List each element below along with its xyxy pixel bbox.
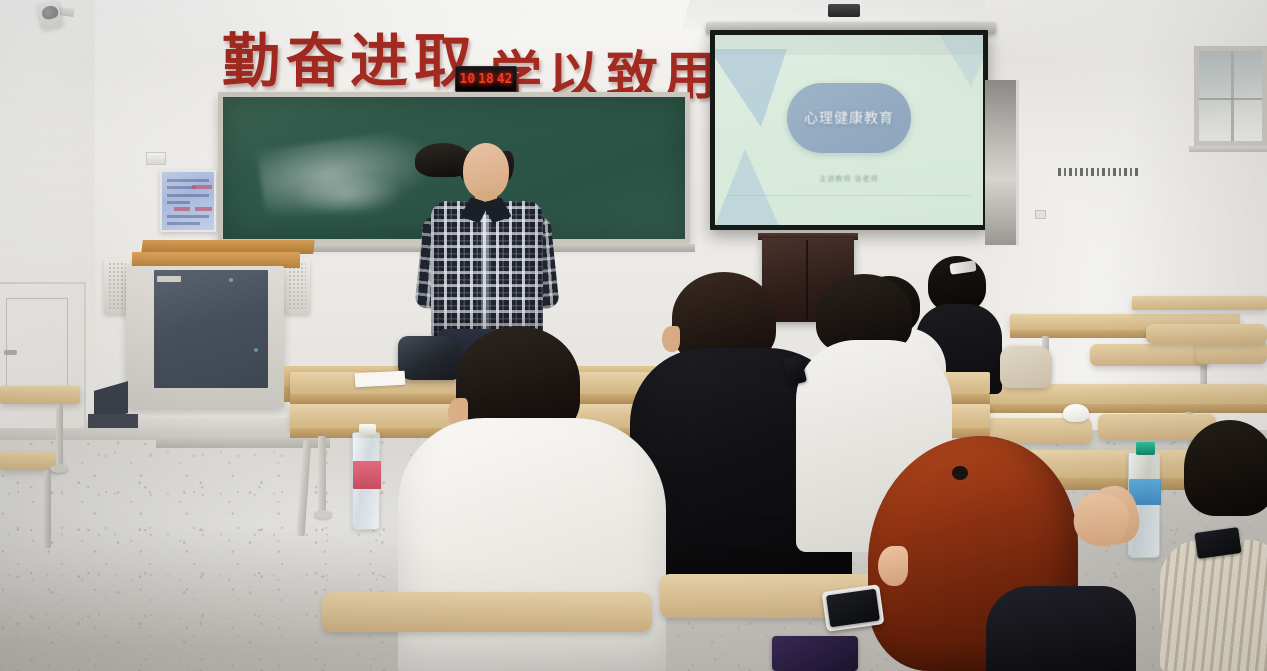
window-sill bbox=[1189, 146, 1267, 152]
led-hour: 10 bbox=[460, 72, 476, 87]
tablet-device[interactable] bbox=[772, 636, 858, 671]
bench-front-left bbox=[322, 592, 652, 632]
projection-screen: 心理健康教育 主讲教师 张老师 bbox=[710, 30, 988, 230]
desk-leg bbox=[44, 470, 51, 548]
teacher-shirt-placket bbox=[481, 215, 489, 333]
desk-leg bbox=[318, 436, 326, 514]
water-bottle bbox=[352, 432, 380, 530]
bottle-label bbox=[353, 461, 381, 489]
desk-left-side bbox=[0, 386, 80, 404]
speaker-grille-icon bbox=[288, 262, 306, 310]
notebook-papers bbox=[355, 371, 406, 388]
multimedia-lectern[interactable] bbox=[88, 236, 324, 436]
desk-right-mid bbox=[1132, 296, 1267, 310]
slide-title-pill: 心理健康教育 bbox=[787, 83, 911, 153]
bench-back-right bbox=[1090, 344, 1210, 366]
speaker-grille-icon bbox=[108, 262, 126, 310]
door-handle[interactable] bbox=[4, 350, 17, 355]
rear-doorway[interactable] bbox=[985, 80, 1019, 245]
lectern-slot bbox=[157, 276, 181, 282]
slide-decor-triangle-bottom-left bbox=[715, 149, 783, 225]
backpack bbox=[1000, 346, 1052, 388]
slide-decor-triangle-top-right bbox=[931, 35, 983, 87]
lectern-shadow-base bbox=[88, 414, 138, 428]
lectern-indicator bbox=[229, 278, 233, 282]
security-camera bbox=[8, 2, 78, 36]
led-second: 42 bbox=[497, 72, 513, 87]
desk-leg-foot bbox=[314, 510, 332, 519]
window-mullion-horizontal bbox=[1199, 98, 1262, 100]
phone-screen[interactable] bbox=[826, 589, 880, 628]
desk-leg bbox=[56, 404, 63, 468]
wall-slogan-left: 勤奋进取 bbox=[222, 14, 478, 98]
led-minute: 18 bbox=[478, 72, 494, 87]
ceiling-projector bbox=[828, 4, 860, 17]
side-window bbox=[1194, 46, 1267, 146]
bench-right-mid bbox=[1146, 324, 1267, 344]
slide-divider bbox=[727, 195, 971, 196]
chalk-smudge-secondary bbox=[293, 173, 403, 217]
presentation-slide: 心理健康教育 主讲教师 张老师 bbox=[715, 35, 983, 225]
bottle-cap bbox=[359, 424, 376, 435]
student-torso bbox=[398, 418, 666, 671]
led-clock-display: 10 18 42 bbox=[455, 66, 517, 92]
wall-mounted-box bbox=[146, 152, 166, 165]
lectern-led-icon bbox=[254, 348, 258, 352]
lectern-front-panel[interactable] bbox=[154, 270, 268, 388]
student-torso bbox=[986, 586, 1136, 671]
student-hair bbox=[1184, 420, 1267, 516]
slide-decor-triangle-top-left bbox=[715, 49, 787, 127]
smartphone-white-case[interactable] bbox=[821, 584, 884, 632]
door-panel bbox=[6, 298, 68, 390]
student-redhair-ponytail bbox=[856, 436, 1128, 671]
wall-notice-poster bbox=[160, 170, 216, 232]
student-torso bbox=[1160, 540, 1267, 671]
window-mullion-vertical bbox=[1231, 51, 1234, 141]
desk-leg-foot bbox=[50, 464, 68, 473]
wall-outlet[interactable] bbox=[1035, 210, 1046, 219]
bottle-cap bbox=[1136, 442, 1155, 455]
wall-rules-text bbox=[1058, 168, 1140, 176]
lectern-body bbox=[126, 266, 284, 408]
slide-title: 心理健康教育 bbox=[804, 108, 894, 128]
tissue-paper bbox=[1063, 404, 1089, 422]
slide-subtitle: 主讲教师 张老师 bbox=[819, 174, 878, 184]
ponytail-tie-icon bbox=[952, 466, 968, 480]
classroom-door[interactable] bbox=[0, 282, 86, 430]
classroom-photo: 勤奋进取 学以致用 10 18 42 bbox=[0, 0, 1267, 671]
student-ear bbox=[878, 546, 908, 586]
